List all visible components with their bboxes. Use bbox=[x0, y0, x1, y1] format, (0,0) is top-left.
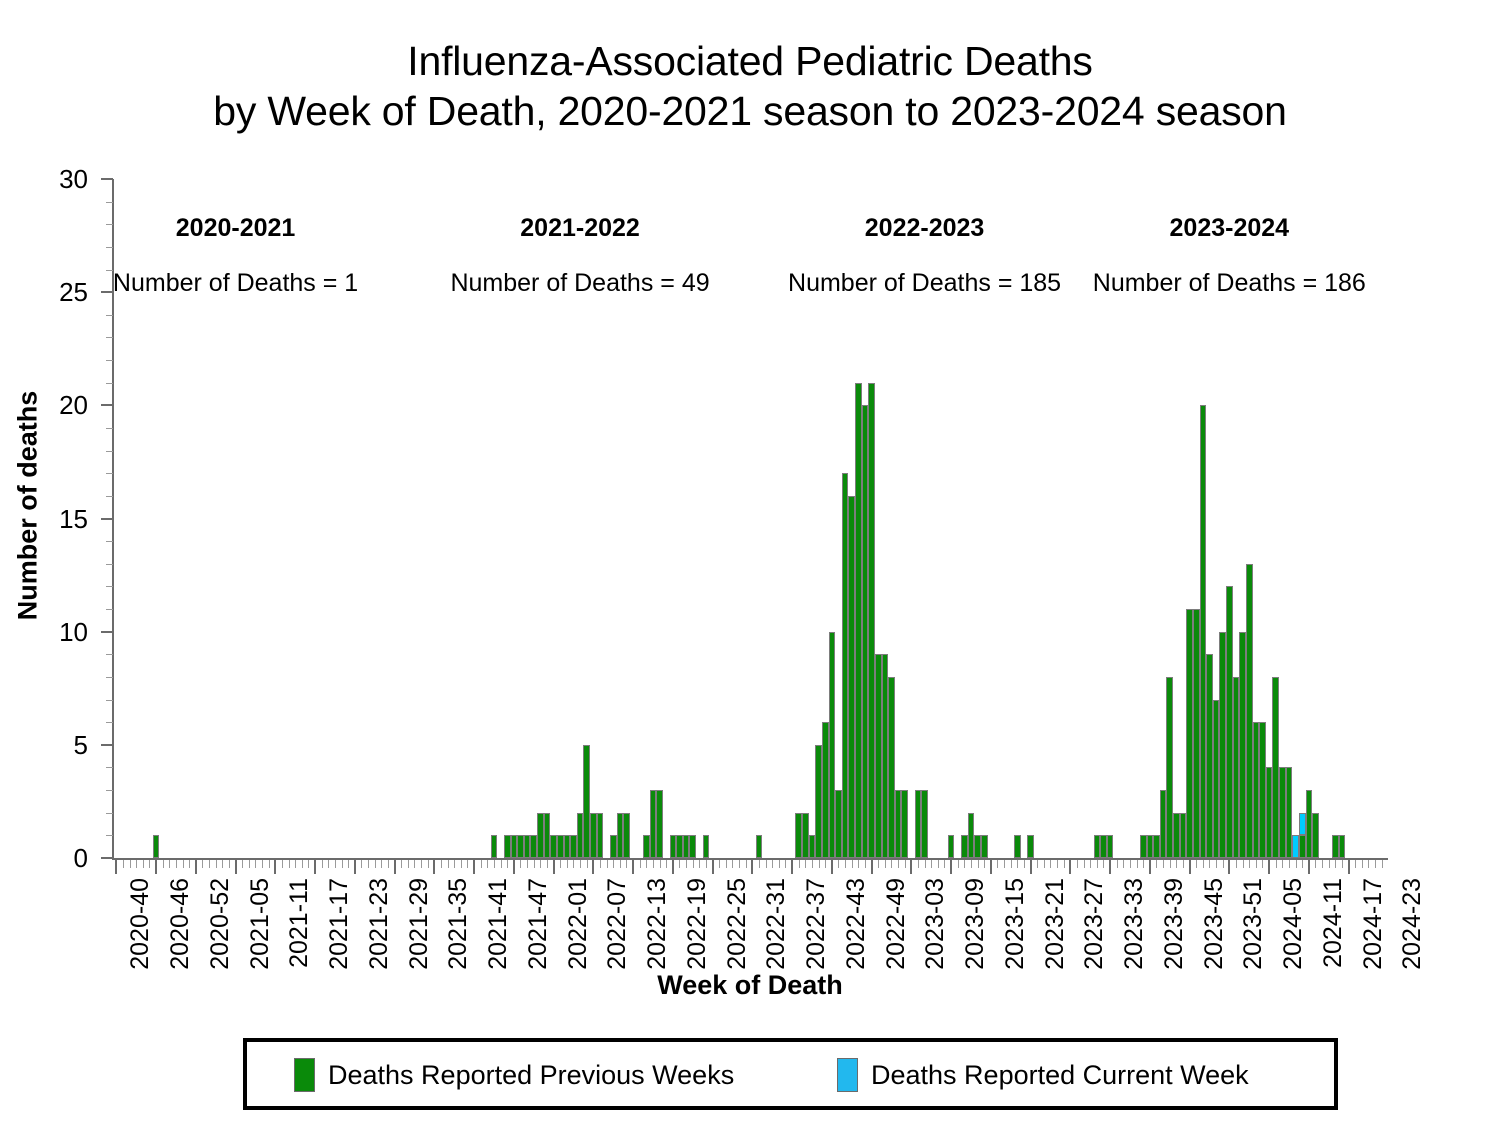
x-minor-tick bbox=[342, 860, 343, 868]
bar-column bbox=[809, 835, 816, 858]
x-minor-tick bbox=[1216, 860, 1217, 868]
y-minor-tick bbox=[106, 835, 113, 836]
bar-segment-previous-weeks bbox=[915, 790, 922, 858]
bar-segment-previous-weeks bbox=[511, 835, 518, 858]
bar-column bbox=[504, 835, 511, 858]
bar-segment-previous-weeks bbox=[597, 813, 604, 858]
x-minor-tick bbox=[308, 860, 309, 868]
x-tick-label: 2022-37 bbox=[802, 878, 831, 970]
x-minor-tick bbox=[348, 860, 349, 868]
bar-segment-previous-weeks bbox=[1160, 790, 1167, 858]
bar-column bbox=[1239, 632, 1246, 858]
bar-column bbox=[981, 835, 988, 858]
x-minor-tick bbox=[706, 860, 707, 868]
x-minor-tick bbox=[189, 860, 190, 868]
bar-segment-previous-weeks bbox=[795, 813, 802, 858]
x-minor-tick bbox=[1103, 860, 1104, 868]
bar-segment-current-week bbox=[1292, 835, 1299, 858]
x-tick-label: 2023-51 bbox=[1239, 878, 1268, 970]
bar-column bbox=[1246, 564, 1253, 858]
y-minor-tick bbox=[106, 609, 113, 610]
x-minor-tick bbox=[1276, 860, 1277, 868]
x-minor-tick bbox=[176, 860, 177, 868]
bar-segment-previous-weeks bbox=[583, 745, 590, 858]
bar-column bbox=[1339, 835, 1346, 858]
x-tick-mark bbox=[1109, 860, 1111, 874]
y-minor-tick bbox=[106, 564, 113, 565]
x-minor-tick bbox=[640, 860, 641, 868]
x-minor-tick bbox=[136, 860, 137, 868]
bar-column bbox=[623, 813, 630, 858]
x-tick-label: 2023-45 bbox=[1200, 878, 1229, 970]
bar-segment-previous-weeks bbox=[676, 835, 683, 858]
x-minor-tick bbox=[1123, 860, 1124, 868]
x-tick-label: 2021-35 bbox=[444, 878, 473, 970]
bar-segment-previous-weeks bbox=[1312, 813, 1319, 858]
bar-segment-previous-weeks bbox=[1166, 677, 1173, 858]
x-minor-tick bbox=[573, 860, 574, 868]
bar-column bbox=[1299, 813, 1306, 858]
bar-column bbox=[1147, 835, 1154, 858]
bar-column bbox=[517, 835, 524, 858]
legend-item-previous-weeks: Deaths Reported Previous Weeks bbox=[294, 1058, 734, 1092]
x-tick-mark bbox=[1149, 860, 1151, 874]
bar-segment-previous-weeks bbox=[921, 790, 928, 858]
x-minor-tick bbox=[699, 860, 700, 868]
bar-column bbox=[1233, 677, 1240, 858]
bar-segment-previous-weeks bbox=[974, 835, 981, 858]
x-tick-label: 2023-09 bbox=[961, 878, 990, 970]
y-minor-tick bbox=[106, 790, 113, 791]
bar-column bbox=[1100, 835, 1107, 858]
x-minor-tick bbox=[845, 860, 846, 868]
bar-column bbox=[491, 835, 498, 858]
x-minor-tick bbox=[262, 860, 263, 868]
bar-column bbox=[888, 677, 895, 858]
x-minor-tick bbox=[222, 860, 223, 868]
x-minor-tick bbox=[1084, 860, 1085, 868]
bar-segment-previous-weeks bbox=[1246, 564, 1253, 858]
bar-column bbox=[802, 813, 809, 858]
x-minor-tick bbox=[746, 860, 747, 868]
bar-segment-previous-weeks bbox=[1206, 654, 1213, 858]
x-minor-tick bbox=[1057, 860, 1058, 868]
x-minor-tick bbox=[978, 860, 979, 868]
bar-column bbox=[610, 835, 617, 858]
x-minor-tick bbox=[282, 860, 283, 868]
bar-segment-previous-weeks bbox=[1180, 813, 1187, 858]
x-minor-tick bbox=[1262, 860, 1263, 868]
x-minor-tick bbox=[739, 860, 740, 868]
bar-segment-previous-weeks bbox=[948, 835, 955, 858]
x-tick-label: 2022-43 bbox=[842, 878, 871, 970]
y-minor-tick bbox=[106, 428, 113, 429]
x-minor-tick bbox=[1223, 860, 1224, 868]
bar-segment-previous-weeks bbox=[623, 813, 630, 858]
bar-column bbox=[1173, 813, 1180, 858]
x-minor-tick bbox=[454, 860, 455, 868]
x-tick-mark bbox=[1030, 860, 1032, 874]
x-minor-tick bbox=[944, 860, 945, 868]
y-minor-tick bbox=[106, 677, 113, 678]
x-tick-mark bbox=[1228, 860, 1230, 874]
x-minor-tick bbox=[958, 860, 959, 868]
x-tick-mark bbox=[115, 860, 117, 874]
x-minor-tick bbox=[408, 860, 409, 868]
x-minor-tick bbox=[255, 860, 256, 868]
x-minor-tick bbox=[984, 860, 985, 868]
bar-column bbox=[643, 835, 650, 858]
bar-column bbox=[875, 654, 882, 858]
x-tick-label: 2023-33 bbox=[1120, 878, 1149, 970]
bar-column bbox=[683, 835, 690, 858]
x-tick-mark bbox=[155, 860, 157, 874]
x-minor-tick bbox=[1163, 860, 1164, 868]
y-tick-mark bbox=[101, 518, 113, 520]
bar-column bbox=[795, 813, 802, 858]
x-minor-tick bbox=[202, 860, 203, 868]
bar-segment-previous-weeks bbox=[809, 835, 816, 858]
x-minor-tick bbox=[1382, 860, 1383, 868]
bar-column bbox=[590, 813, 597, 858]
x-minor-tick bbox=[289, 860, 290, 868]
x-tick-mark bbox=[751, 860, 753, 874]
y-minor-tick bbox=[106, 541, 113, 542]
x-minor-tick bbox=[1203, 860, 1204, 868]
x-minor-tick bbox=[149, 860, 150, 868]
x-tick-label: 2023-21 bbox=[1041, 878, 1070, 970]
x-minor-tick bbox=[587, 860, 588, 868]
x-minor-tick bbox=[1017, 860, 1018, 868]
x-minor-tick bbox=[1196, 860, 1197, 868]
x-tick-label: 2022-19 bbox=[683, 878, 712, 970]
bar-segment-previous-weeks bbox=[1233, 677, 1240, 858]
y-minor-tick bbox=[106, 360, 113, 361]
bar-segment-previous-weeks bbox=[153, 835, 160, 858]
x-minor-tick bbox=[858, 860, 859, 868]
x-tick-mark bbox=[314, 860, 316, 874]
y-minor-tick bbox=[106, 473, 113, 474]
bar-segment-previous-weeks bbox=[842, 473, 849, 858]
x-tick-label: 2021-05 bbox=[246, 878, 275, 970]
y-tick-label: 15 bbox=[28, 504, 88, 535]
bar-segment-previous-weeks bbox=[689, 835, 696, 858]
x-tick-label: 2021-23 bbox=[365, 878, 394, 970]
x-minor-tick bbox=[1037, 860, 1038, 868]
x-minor-tick bbox=[1156, 860, 1157, 868]
x-tick-mark bbox=[910, 860, 912, 874]
bar-column bbox=[948, 835, 955, 858]
bar-segment-previous-weeks bbox=[517, 835, 524, 858]
y-tick-mark bbox=[101, 744, 113, 746]
bar-segment-previous-weeks bbox=[504, 835, 511, 858]
bar-segment-previous-weeks bbox=[537, 813, 544, 858]
bar-column bbox=[703, 835, 710, 858]
x-tick-label: 2022-31 bbox=[762, 878, 791, 970]
bar-segment-previous-weeks bbox=[524, 835, 531, 858]
bar-segment-previous-weeks bbox=[564, 835, 571, 858]
x-minor-tick bbox=[1011, 860, 1012, 868]
x-tick-mark bbox=[473, 860, 475, 874]
y-tick-label: 5 bbox=[28, 730, 88, 761]
x-tick-mark bbox=[553, 860, 555, 874]
x-minor-tick bbox=[600, 860, 601, 868]
x-tick-mark bbox=[195, 860, 197, 874]
legend-item-current-week: Deaths Reported Current Week bbox=[837, 1058, 1249, 1092]
bar-segment-previous-weeks bbox=[1226, 586, 1233, 858]
bar-segment-previous-weeks bbox=[683, 835, 690, 858]
bar-segment-previous-weeks bbox=[1213, 700, 1220, 858]
x-tick-mark bbox=[672, 860, 674, 874]
bar-column bbox=[577, 813, 584, 858]
bar-column bbox=[524, 835, 531, 858]
x-minor-tick bbox=[825, 860, 826, 868]
bar-segment-previous-weeks bbox=[1094, 835, 1101, 858]
bar-column bbox=[1272, 677, 1279, 858]
bar-column bbox=[1107, 835, 1114, 858]
x-minor-tick bbox=[1289, 860, 1290, 868]
x-minor-tick bbox=[838, 860, 839, 868]
bar-column bbox=[617, 813, 624, 858]
x-minor-tick bbox=[527, 860, 528, 868]
x-minor-tick bbox=[216, 860, 217, 868]
bar-segment-previous-weeks bbox=[643, 835, 650, 858]
bar-column bbox=[882, 654, 889, 858]
bar-column bbox=[530, 835, 537, 858]
x-tick-label: 2024-11 bbox=[1319, 878, 1348, 968]
x-tick-label: 2022-13 bbox=[643, 878, 672, 970]
bar-segment-previous-weeks bbox=[822, 722, 829, 858]
x-tick-label: 2022-49 bbox=[882, 878, 911, 970]
x-tick-mark bbox=[791, 860, 793, 874]
bar-segment-previous-weeks bbox=[1279, 767, 1286, 858]
x-minor-tick bbox=[302, 860, 303, 868]
x-minor-tick bbox=[852, 860, 853, 868]
bar-segment-previous-weeks bbox=[1239, 632, 1246, 858]
y-tick-mark bbox=[101, 631, 113, 633]
x-tick-mark bbox=[950, 860, 952, 874]
bar-column bbox=[1332, 835, 1339, 858]
bar-column bbox=[1286, 767, 1293, 858]
x-tick-mark bbox=[354, 860, 356, 874]
bar-segment-previous-weeks bbox=[617, 813, 624, 858]
x-minor-tick bbox=[269, 860, 270, 868]
legend-swatch-previous-weeks-icon bbox=[294, 1058, 315, 1092]
x-minor-tick bbox=[183, 860, 184, 868]
bar-column bbox=[550, 835, 557, 858]
x-minor-tick bbox=[878, 860, 879, 868]
bar-segment-previous-weeks bbox=[1306, 790, 1313, 858]
bar-segment-previous-weeks bbox=[961, 835, 968, 858]
bar-segment-previous-weeks bbox=[1027, 835, 1034, 858]
bar-column bbox=[815, 745, 822, 858]
x-minor-tick bbox=[328, 860, 329, 868]
x-minor-tick bbox=[368, 860, 369, 868]
bar-column bbox=[1279, 767, 1286, 858]
bar-column bbox=[1094, 835, 1101, 858]
bar-column bbox=[855, 383, 862, 858]
x-minor-tick bbox=[1375, 860, 1376, 868]
x-minor-tick bbox=[666, 860, 667, 868]
y-tick-label: 0 bbox=[28, 843, 88, 874]
bar-column bbox=[1014, 835, 1021, 858]
bar-column bbox=[829, 632, 836, 858]
x-minor-tick bbox=[209, 860, 210, 868]
x-minor-tick bbox=[249, 860, 250, 868]
x-minor-tick bbox=[925, 860, 926, 868]
bar-segment-previous-weeks bbox=[656, 790, 663, 858]
x-minor-tick bbox=[441, 860, 442, 868]
bar-segment-previous-weeks bbox=[1259, 722, 1266, 858]
x-minor-tick bbox=[766, 860, 767, 868]
bar-segment-previous-weeks bbox=[1272, 677, 1279, 858]
x-minor-tick bbox=[971, 860, 972, 868]
x-tick-mark bbox=[632, 860, 634, 874]
x-minor-tick bbox=[1004, 860, 1005, 868]
x-tick-mark bbox=[990, 860, 992, 874]
bar-segment-previous-weeks bbox=[1107, 835, 1114, 858]
bar-column bbox=[961, 835, 968, 858]
x-minor-tick bbox=[540, 860, 541, 868]
x-tick-label: 2021-11 bbox=[285, 878, 314, 968]
bar-segment-previous-weeks bbox=[895, 790, 902, 858]
bar-segment-previous-weeks bbox=[570, 835, 577, 858]
bar-segment-previous-weeks bbox=[1100, 835, 1107, 858]
x-tick-mark bbox=[592, 860, 594, 874]
x-minor-tick bbox=[620, 860, 621, 868]
x-minor-tick bbox=[428, 860, 429, 868]
bar-segment-previous-weeks bbox=[756, 835, 763, 858]
bar-column bbox=[1180, 813, 1187, 858]
bar-segment-previous-weeks bbox=[1186, 609, 1193, 858]
bar-segment-previous-weeks bbox=[670, 835, 677, 858]
x-minor-tick bbox=[719, 860, 720, 868]
x-minor-tick bbox=[322, 860, 323, 868]
x-minor-tick bbox=[646, 860, 647, 868]
x-tick-label: 2024-05 bbox=[1279, 878, 1308, 970]
bar-segment-previous-weeks bbox=[1253, 722, 1260, 858]
x-minor-tick bbox=[1137, 860, 1138, 868]
x-tick-label: 2023-15 bbox=[1001, 878, 1030, 970]
x-minor-tick bbox=[169, 860, 170, 868]
x-minor-tick bbox=[1329, 860, 1330, 868]
x-minor-tick bbox=[938, 860, 939, 868]
x-minor-tick bbox=[964, 860, 965, 868]
bar-column bbox=[1206, 654, 1213, 858]
x-minor-tick bbox=[1064, 860, 1065, 868]
x-minor-tick bbox=[295, 860, 296, 868]
x-minor-tick bbox=[1090, 860, 1091, 868]
bar-column bbox=[915, 790, 922, 858]
bar-segment-previous-weeks bbox=[1332, 835, 1339, 858]
x-tick-mark bbox=[513, 860, 515, 874]
x-tick-mark bbox=[831, 860, 833, 874]
legend-swatch-current-week-icon bbox=[837, 1058, 858, 1092]
bar-segment-previous-weeks bbox=[577, 813, 584, 858]
x-tick-mark bbox=[712, 860, 714, 874]
bar-column bbox=[676, 835, 683, 858]
bar-segment-previous-weeks bbox=[1173, 813, 1180, 858]
y-minor-tick bbox=[106, 451, 113, 452]
y-minor-tick bbox=[106, 202, 113, 203]
y-tick-mark bbox=[101, 857, 113, 859]
bar-segment-previous-weeks bbox=[650, 790, 657, 858]
bar-column bbox=[1160, 790, 1167, 858]
bar-segment-previous-weeks bbox=[848, 496, 855, 858]
bar-column bbox=[511, 835, 518, 858]
bar-segment-previous-weeks bbox=[802, 813, 809, 858]
bar-segment-previous-weeks bbox=[815, 745, 822, 858]
x-minor-tick bbox=[1342, 860, 1343, 868]
x-minor-tick bbox=[1117, 860, 1118, 868]
bar-segment-previous-weeks bbox=[835, 790, 842, 858]
x-tick-label: 2023-39 bbox=[1160, 878, 1189, 970]
x-minor-tick bbox=[494, 860, 495, 868]
x-minor-tick bbox=[997, 860, 998, 868]
x-minor-tick bbox=[388, 860, 389, 868]
bar-segment-previous-weeks bbox=[829, 632, 836, 858]
x-minor-tick bbox=[560, 860, 561, 868]
x-minor-tick bbox=[1143, 860, 1144, 868]
x-minor-tick bbox=[679, 860, 680, 868]
x-minor-tick bbox=[520, 860, 521, 868]
x-minor-tick bbox=[467, 860, 468, 868]
bar-segment-previous-weeks bbox=[875, 654, 882, 858]
y-minor-tick bbox=[106, 383, 113, 384]
bar-segment-previous-weeks bbox=[1286, 767, 1293, 858]
x-tick-label: 2021-41 bbox=[484, 878, 513, 970]
bar-column bbox=[848, 496, 855, 858]
x-minor-tick bbox=[461, 860, 462, 868]
y-tick-label: 20 bbox=[28, 390, 88, 421]
bar-segment-previous-weeks bbox=[544, 813, 551, 858]
x-tick-mark bbox=[1069, 860, 1071, 874]
x-minor-tick bbox=[1243, 860, 1244, 868]
bar-column bbox=[756, 835, 763, 858]
x-minor-tick bbox=[1209, 860, 1210, 868]
bar-segment-previous-weeks bbox=[888, 677, 895, 858]
bar-column bbox=[1259, 722, 1266, 858]
bar-segment-previous-weeks bbox=[1014, 835, 1021, 858]
bar-segment-previous-weeks bbox=[1140, 835, 1147, 858]
x-minor-tick bbox=[534, 860, 535, 868]
bar-column bbox=[1253, 722, 1260, 858]
bar-column bbox=[1153, 835, 1160, 858]
bar-segment-previous-weeks bbox=[610, 835, 617, 858]
bar-segment-previous-weeks bbox=[1219, 632, 1226, 858]
bar-segment-previous-weeks bbox=[901, 790, 908, 858]
x-minor-tick bbox=[805, 860, 806, 868]
x-minor-tick bbox=[501, 860, 502, 868]
bar-column bbox=[564, 835, 571, 858]
x-minor-tick bbox=[1335, 860, 1336, 868]
y-minor-tick bbox=[106, 654, 113, 655]
x-minor-tick bbox=[931, 860, 932, 868]
bar-column bbox=[1186, 609, 1193, 858]
x-tick-label: 2020-46 bbox=[166, 878, 195, 970]
bar-column bbox=[1219, 632, 1226, 858]
x-minor-tick bbox=[242, 860, 243, 868]
x-minor-tick bbox=[1050, 860, 1051, 868]
x-minor-tick bbox=[414, 860, 415, 868]
bar-segment-previous-weeks bbox=[1193, 609, 1200, 858]
bar-column bbox=[835, 790, 842, 858]
x-minor-tick bbox=[779, 860, 780, 868]
y-tick-label: 30 bbox=[28, 164, 88, 195]
bar-column bbox=[1213, 700, 1220, 858]
page-title: Influenza-Associated Pediatric Deaths by… bbox=[0, 36, 1500, 136]
x-minor-tick bbox=[335, 860, 336, 868]
